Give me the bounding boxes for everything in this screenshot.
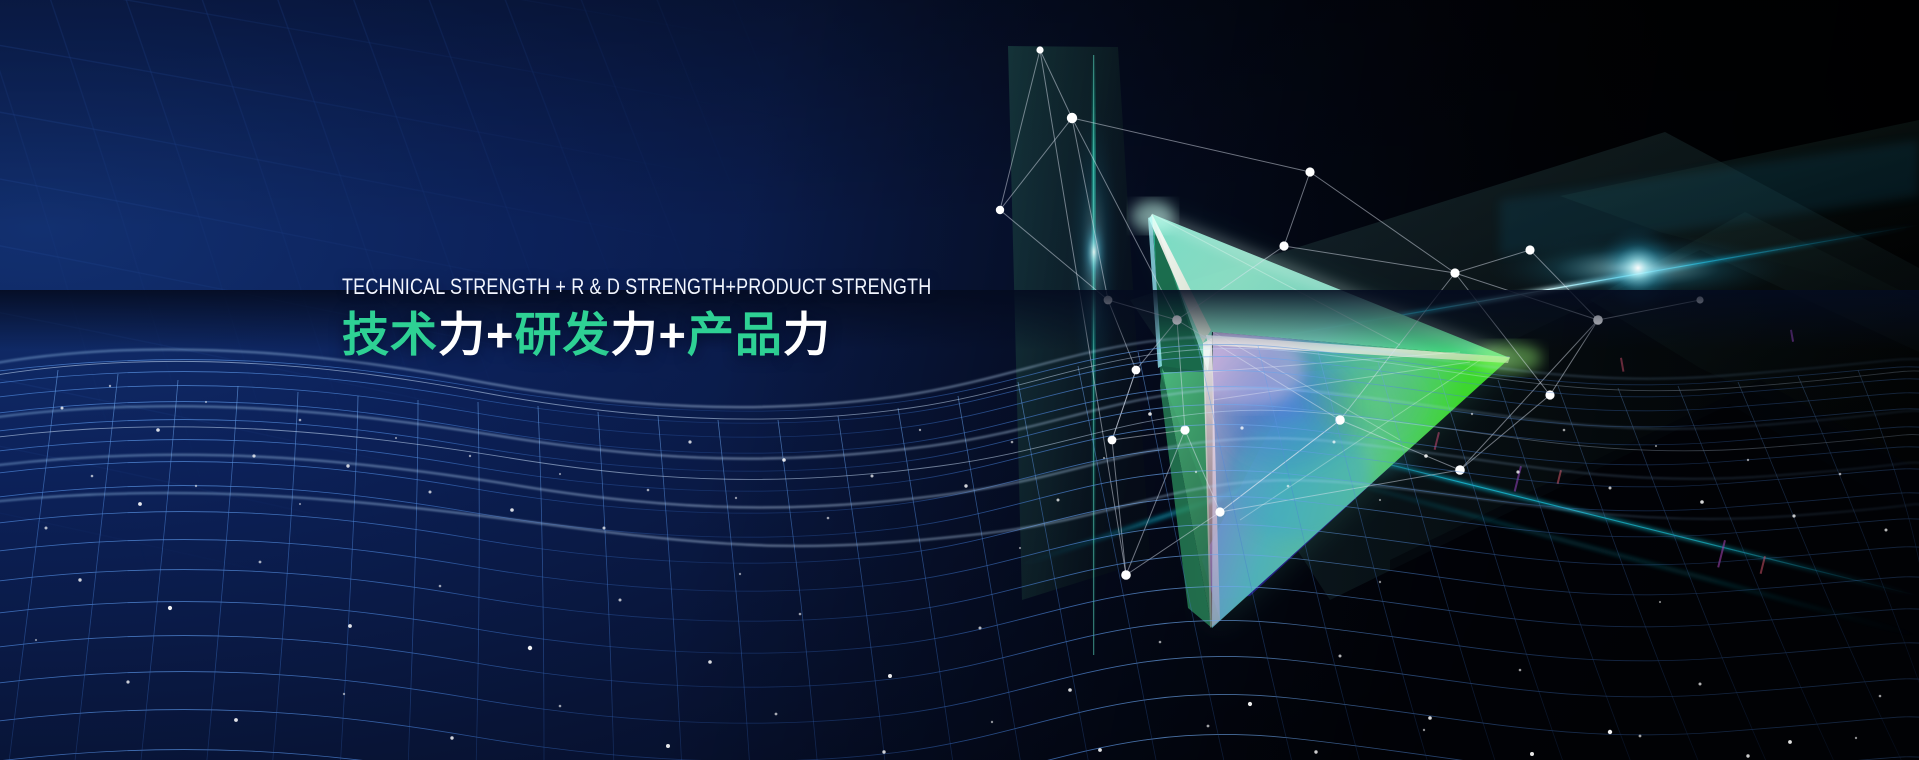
headline-segment-7: 力 (783, 308, 831, 361)
headline-segment-3: 研发 (514, 308, 610, 361)
hero-text-block: TECHNICAL STRENGTH + R & D STRENGTH+PROD… (342, 275, 1062, 362)
hero-eyebrow-text: TECHNICAL STRENGTH + R & D STRENGTH+PROD… (342, 275, 918, 299)
headline-segment-4: 力 (610, 308, 658, 361)
headline-segment-1: 力 (438, 308, 486, 361)
headline-segment-5: + (658, 308, 686, 361)
hero-headline: 技术力+研发力+产品力 (342, 307, 1062, 362)
headline-segment-6: 产品 (687, 308, 783, 361)
hero-banner: TECHNICAL STRENGTH + R & D STRENGTH+PROD… (0, 0, 1919, 760)
headline-segment-0: 技术 (342, 308, 438, 361)
headline-segment-2: + (486, 308, 514, 361)
